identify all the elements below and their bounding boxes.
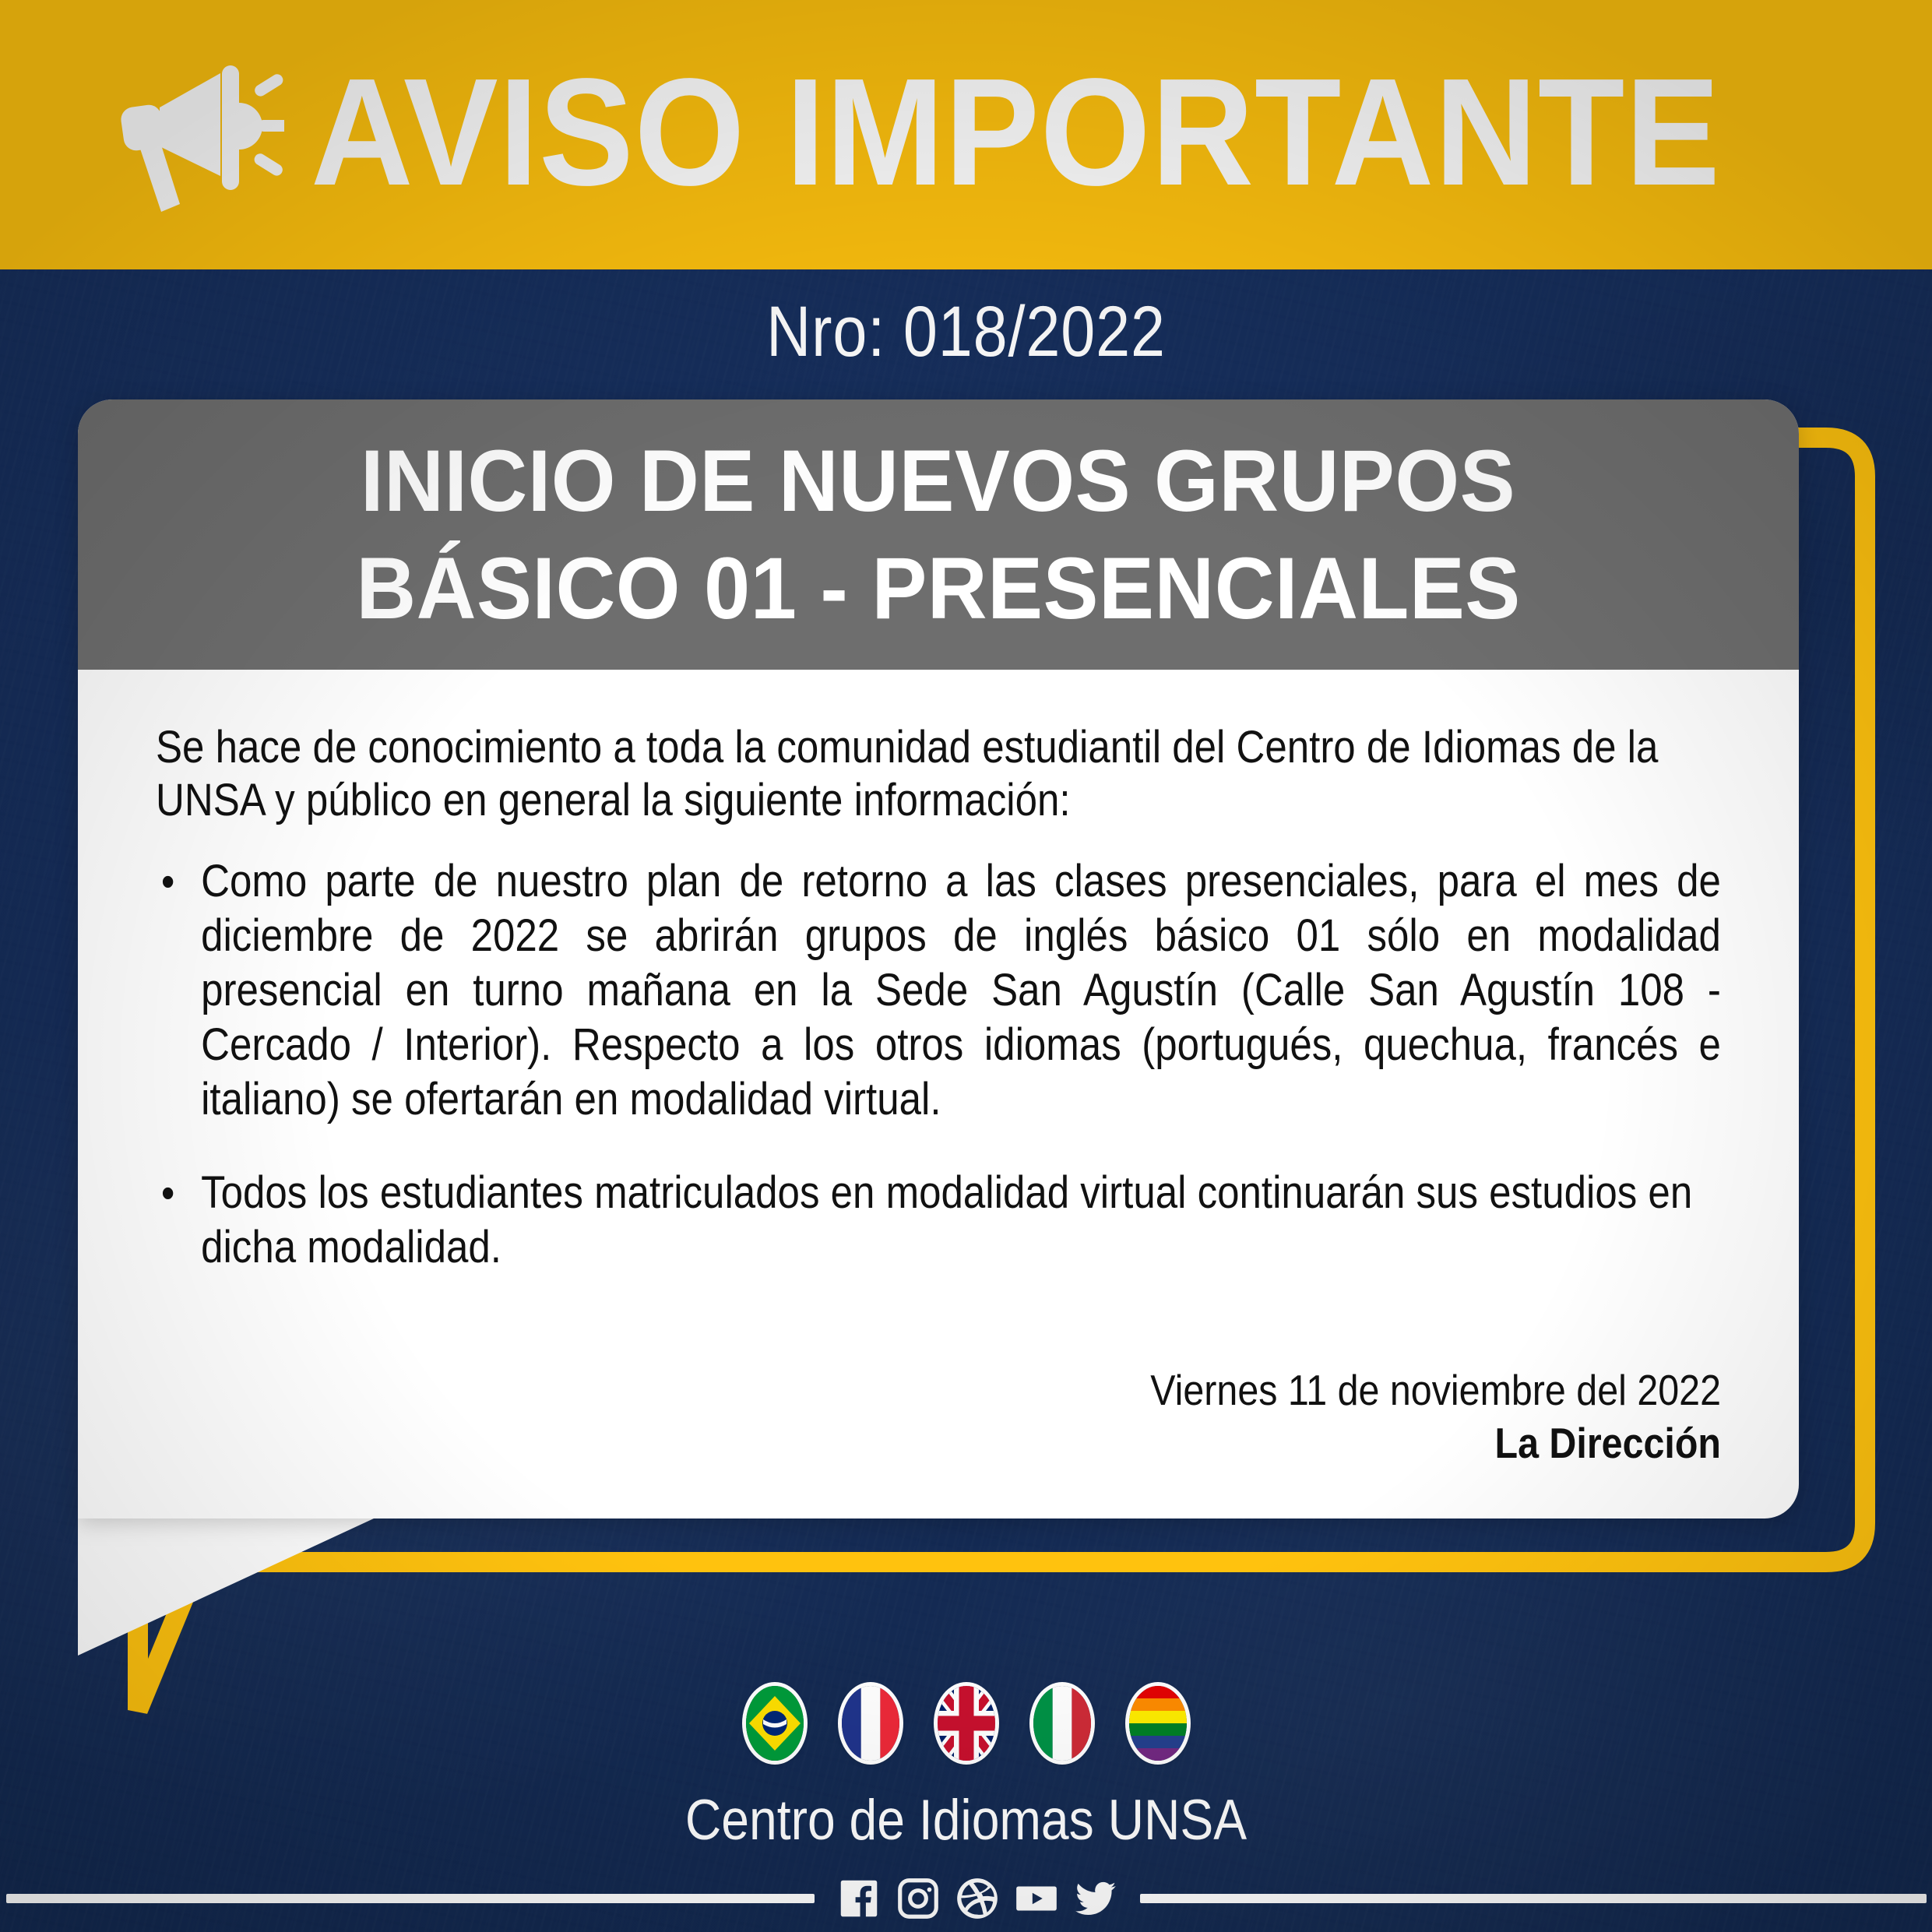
youtube-icon[interactable] — [1012, 1874, 1061, 1923]
facebook-icon[interactable] — [835, 1874, 883, 1923]
notice-date: Viernes 11 de noviembre del 2022 — [830, 1364, 1721, 1416]
notice-number: Nro: 018/2022 — [135, 293, 1797, 371]
flag-france — [842, 1686, 899, 1761]
signature-block: Viernes 11 de noviembre del 2022 La Dire… — [709, 1364, 1721, 1470]
card-body: Se hace de conocimiento a toda la comuni… — [78, 670, 1799, 1519]
flag-italy — [1033, 1686, 1091, 1761]
poster: AVISO IMPORTANTE Nro: 018/2022 INICIO DE… — [0, 0, 1932, 1932]
language-flags — [0, 1686, 1932, 1761]
list-item: • Como parte de nuestro plan de retorno … — [156, 854, 1721, 1127]
organization-name: Centro de Idiomas UNSA — [116, 1788, 1816, 1853]
list-item: • Todos los estudiantes matriculados en … — [156, 1166, 1721, 1275]
list-item-text: Todos los estudiantes matriculados en mo… — [201, 1166, 1721, 1275]
social-links-row — [0, 1865, 1932, 1932]
megaphone-icon — [105, 59, 284, 215]
header-title: AVISO IMPORTANTE — [311, 55, 1721, 210]
bullet-list: • Como parte de nuestro plan de retorno … — [156, 854, 1721, 1314]
intro-paragraph: Se hace de conocimiento a toda la comuni… — [156, 721, 1721, 827]
card-title-line-1: INICIO DE NUEVOS GRUPOS — [361, 428, 1515, 535]
header-band: AVISO IMPORTANTE — [0, 0, 1932, 269]
card-title-line-2: BÁSICO 01 - PRESENCIALES — [356, 535, 1520, 642]
notice-signer: La Dirección — [830, 1416, 1721, 1470]
bullet-marker: • — [156, 854, 201, 909]
social-icons — [835, 1874, 1120, 1923]
twitter-icon[interactable] — [1072, 1874, 1120, 1923]
bullet-marker: • — [156, 1166, 201, 1220]
list-item-text: Como parte de nuestro plan de retorno a … — [201, 854, 1721, 1127]
speech-bubble-tail — [78, 1519, 405, 1656]
flag-united-kingdom — [938, 1686, 995, 1761]
announcement-card: INICIO DE NUEVOS GRUPOS BÁSICO 01 - PRES… — [78, 399, 1799, 1519]
flag-rainbow — [1129, 1686, 1187, 1761]
instagram-icon[interactable] — [894, 1874, 942, 1923]
divider-left — [6, 1894, 815, 1903]
card-header: INICIO DE NUEVOS GRUPOS BÁSICO 01 - PRES… — [78, 399, 1799, 670]
dribbble-icon[interactable] — [953, 1874, 1001, 1923]
flag-brazil — [746, 1686, 804, 1761]
divider-right — [1140, 1894, 1927, 1903]
